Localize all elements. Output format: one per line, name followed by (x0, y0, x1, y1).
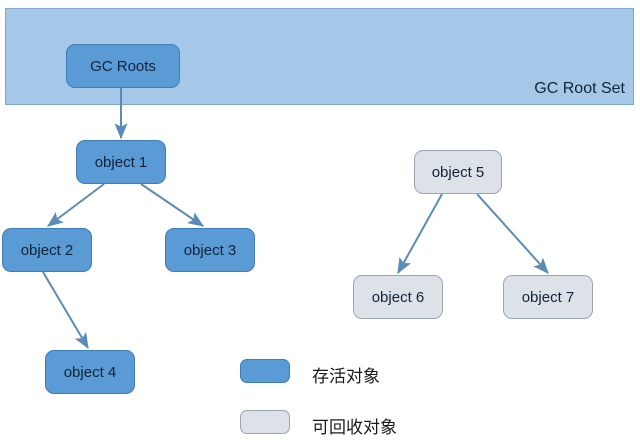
node-label: object 2 (21, 242, 74, 259)
edge-object-5-to-object-6 (398, 194, 442, 273)
edge-object-5-to-object-7 (477, 194, 548, 273)
edge-object-1-to-object-3 (141, 184, 203, 226)
node-label: object 6 (372, 289, 425, 306)
node-object-2[interactable]: object 2 (2, 228, 92, 272)
node-object-4[interactable]: object 4 (45, 350, 135, 394)
node-label: object 3 (184, 242, 237, 259)
legend-dead-label: 可回收对象 (312, 413, 397, 438)
node-object-1[interactable]: object 1 (76, 140, 166, 184)
edge-object-2-to-object-4 (43, 272, 88, 348)
node-label: object 5 (432, 164, 485, 181)
gc-root-set-label: GC Root Set (534, 80, 625, 98)
node-object-3[interactable]: object 3 (165, 228, 255, 272)
node-object-5[interactable]: object 5 (414, 150, 502, 194)
legend-dead-swatch (240, 410, 290, 434)
diagram-canvas: GC Root Set GC Rootsobject 1object 2obje… (0, 0, 640, 448)
node-object-7[interactable]: object 7 (503, 275, 593, 319)
node-label: GC Roots (90, 58, 156, 75)
edge-object-1-to-object-2 (48, 184, 104, 226)
node-object-6[interactable]: object 6 (353, 275, 443, 319)
legend-live-label: 存活对象 (312, 362, 380, 387)
node-gc-roots[interactable]: GC Roots (66, 44, 180, 88)
legend-live-swatch (240, 359, 290, 383)
node-label: object 7 (522, 289, 575, 306)
node-label: object 4 (64, 364, 117, 381)
node-label: object 1 (95, 154, 148, 171)
